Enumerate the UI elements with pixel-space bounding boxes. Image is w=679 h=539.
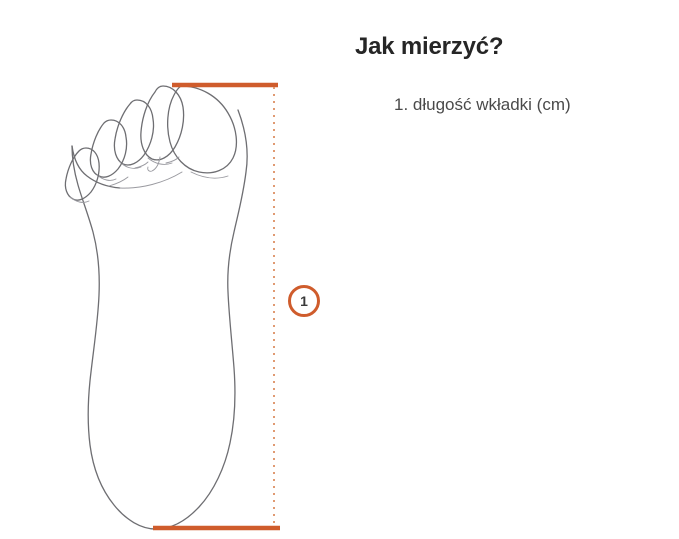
measuring-guide-graphic: 1 Jak mierzyć? 1. długość wkładki (cm) (0, 0, 679, 539)
foot-sole-outline-group (65, 86, 247, 529)
info-panel: Jak mierzyć? 1. długość wkładki (cm) (340, 0, 679, 539)
arch-contour (72, 146, 120, 188)
toe-gap-mark-d (109, 177, 128, 186)
medial-ball-crease (120, 172, 182, 188)
toe-1-big (168, 86, 237, 173)
measurement-list-item-1: 1. długość wkładki (cm) (394, 92, 571, 118)
foot-outline-svg (0, 0, 340, 539)
measurement-badge-number: 1 (300, 294, 308, 308)
toe-gap-mark-c (135, 162, 148, 168)
toe-5-little (65, 148, 99, 200)
toe-4 (90, 120, 126, 177)
foot-illustration: 1 (0, 0, 340, 539)
page-title: Jak mierzyć? (355, 33, 503, 61)
measurement-list: 1. długość wkładki (cm) (394, 92, 571, 118)
measurement-badge-1: 1 (288, 285, 320, 317)
